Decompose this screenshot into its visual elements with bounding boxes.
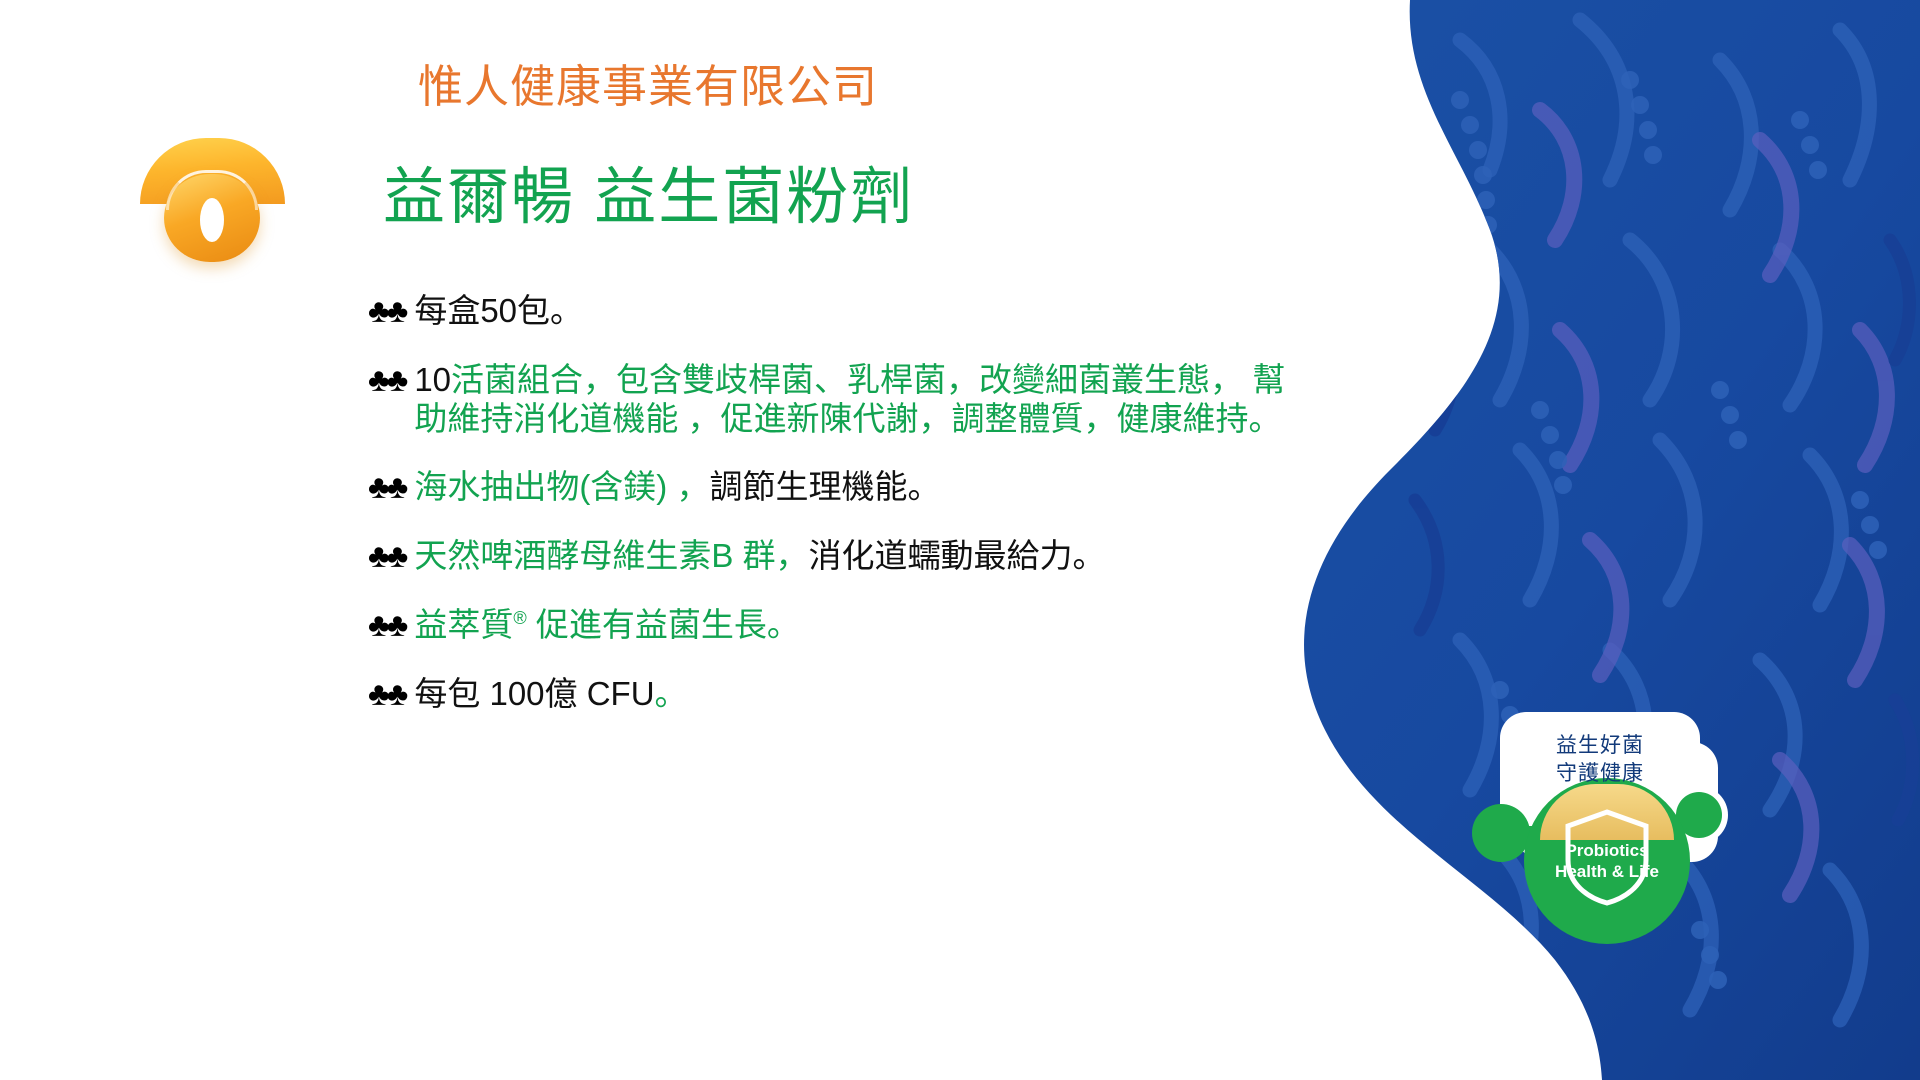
bullet-segment: 益萃質 bbox=[414, 606, 513, 643]
bullet-item: ♣♣ 益萃質® 促進有益菌生長。 bbox=[368, 606, 1288, 645]
badge-chinese-line1: 益生好菌 bbox=[1500, 732, 1700, 760]
bullet-text: 每盒50包。 bbox=[414, 292, 583, 331]
badge-english-text: Probiotics Health & Life bbox=[1524, 840, 1690, 883]
bullet-segment: 活菌組合，包含雙歧桿菌、乳桿菌，改變細菌叢生態， 幫助維持消化道機能 ，促進新陳… bbox=[414, 361, 1285, 437]
bullet-text: 益萃質® 促進有益菌生長。 bbox=[414, 606, 800, 645]
badge-chinese-text: 益生好菌 守護健康 bbox=[1500, 732, 1700, 789]
club-bullet-icon: ♣♣ bbox=[368, 468, 405, 507]
club-bullet-icon: ♣♣ bbox=[368, 537, 405, 576]
bullet-text: 每包 100億 CFU。 bbox=[414, 675, 687, 714]
bullet-item: ♣♣海水抽出物(含鎂) ，調節生理機能。 bbox=[368, 468, 1288, 507]
bullet-segment: 每盒50包。 bbox=[414, 292, 583, 329]
badge-english-line2: Health & Life bbox=[1524, 861, 1690, 882]
logo-center-hole bbox=[200, 198, 224, 242]
bullet-segment: 消化道蠕動最給力。 bbox=[809, 537, 1106, 574]
feature-bullet-list: ♣♣每盒50包。♣♣10活菌組合，包含雙歧桿菌、乳桿菌，改變細菌叢生態， 幫助維… bbox=[368, 292, 1288, 744]
club-bullet-icon: ♣♣ bbox=[368, 675, 405, 714]
bullet-segment: 。 bbox=[655, 675, 688, 712]
bullet-segment: 每包 100億 CFU bbox=[414, 675, 654, 712]
club-bullet-icon: ♣♣ bbox=[368, 361, 405, 400]
company-name: 惟人健康事業有限公司 bbox=[418, 50, 878, 115]
company-logo bbox=[140, 138, 285, 263]
bullet-segment: 促進有益菌生長。 bbox=[527, 606, 800, 643]
bullet-segment: 海水抽出物(含鎂) ， bbox=[414, 468, 709, 505]
bullet-text: 天然啤酒酵母維生素B 群，消化道蠕動最給力。 bbox=[414, 537, 1105, 576]
bullet-item: ♣♣天然啤酒酵母維生素B 群，消化道蠕動最給力。 bbox=[368, 537, 1288, 576]
product-title: 益爾暢 益生菌粉劑 bbox=[383, 146, 914, 236]
club-bullet-icon: ♣♣ bbox=[368, 292, 405, 331]
registered-mark: ® bbox=[513, 608, 526, 628]
badge-chinese-line2: 守護健康 bbox=[1500, 760, 1700, 788]
bullet-segment: 天然啤酒酵母維生素B 群， bbox=[414, 537, 808, 574]
bullet-segment: 10 bbox=[414, 361, 451, 398]
club-bullet-icon: ♣♣ bbox=[368, 606, 405, 645]
bullet-text: 10活菌組合，包含雙歧桿菌、乳桿菌，改變細菌叢生態， 幫助維持消化道機能 ，促進… bbox=[414, 361, 1288, 438]
badge-english-line1: Probiotics bbox=[1524, 840, 1690, 861]
bullet-segment: 調節生理機能。 bbox=[709, 468, 940, 505]
badge-knob-left bbox=[1472, 804, 1530, 862]
bullet-item: ♣♣10活菌組合，包含雙歧桿菌、乳桿菌，改變細菌叢生態， 幫助維持消化道機能 ，… bbox=[368, 361, 1288, 438]
bullet-item: ♣♣每包 100億 CFU。 bbox=[368, 675, 1288, 714]
bullet-item: ♣♣每盒50包。 bbox=[368, 292, 1288, 331]
probiotics-badge: 益生好菌 守護健康 Probiotics Health & Life bbox=[1500, 712, 1718, 972]
bullet-text: 海水抽出物(含鎂) ，調節生理機能。 bbox=[414, 468, 940, 507]
